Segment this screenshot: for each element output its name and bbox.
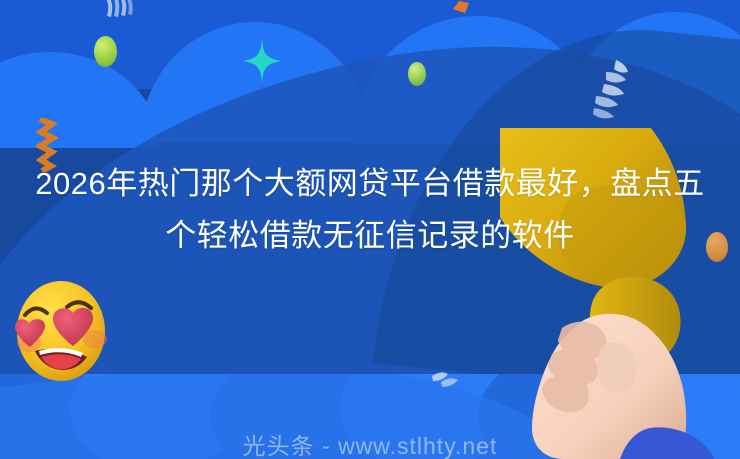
silver-spiral-top-icon	[104, 0, 138, 20]
silver-spiral-mid-icon	[430, 368, 460, 390]
silver-spiral-right-icon	[590, 58, 632, 128]
lime-dot-upper-right-icon	[408, 62, 426, 86]
watermark: 光头条 - www.stlhty.net	[0, 427, 740, 459]
smiling-face-with-hearts-emoji	[11, 277, 111, 385]
teal-sparkle-star-icon	[243, 39, 281, 83]
page-title: 2026年热门那个大额网贷平台借款最好，盘点五个轻松借款无征信记录的软件	[20, 158, 720, 262]
orange-chip-icon	[452, 0, 470, 14]
promo-banner: 2026年热门那个大额网贷平台借款最好，盘点五个轻松借款无征信记录的软件 光头条…	[0, 0, 740, 459]
lime-dot-upper-left-icon	[94, 36, 117, 67]
